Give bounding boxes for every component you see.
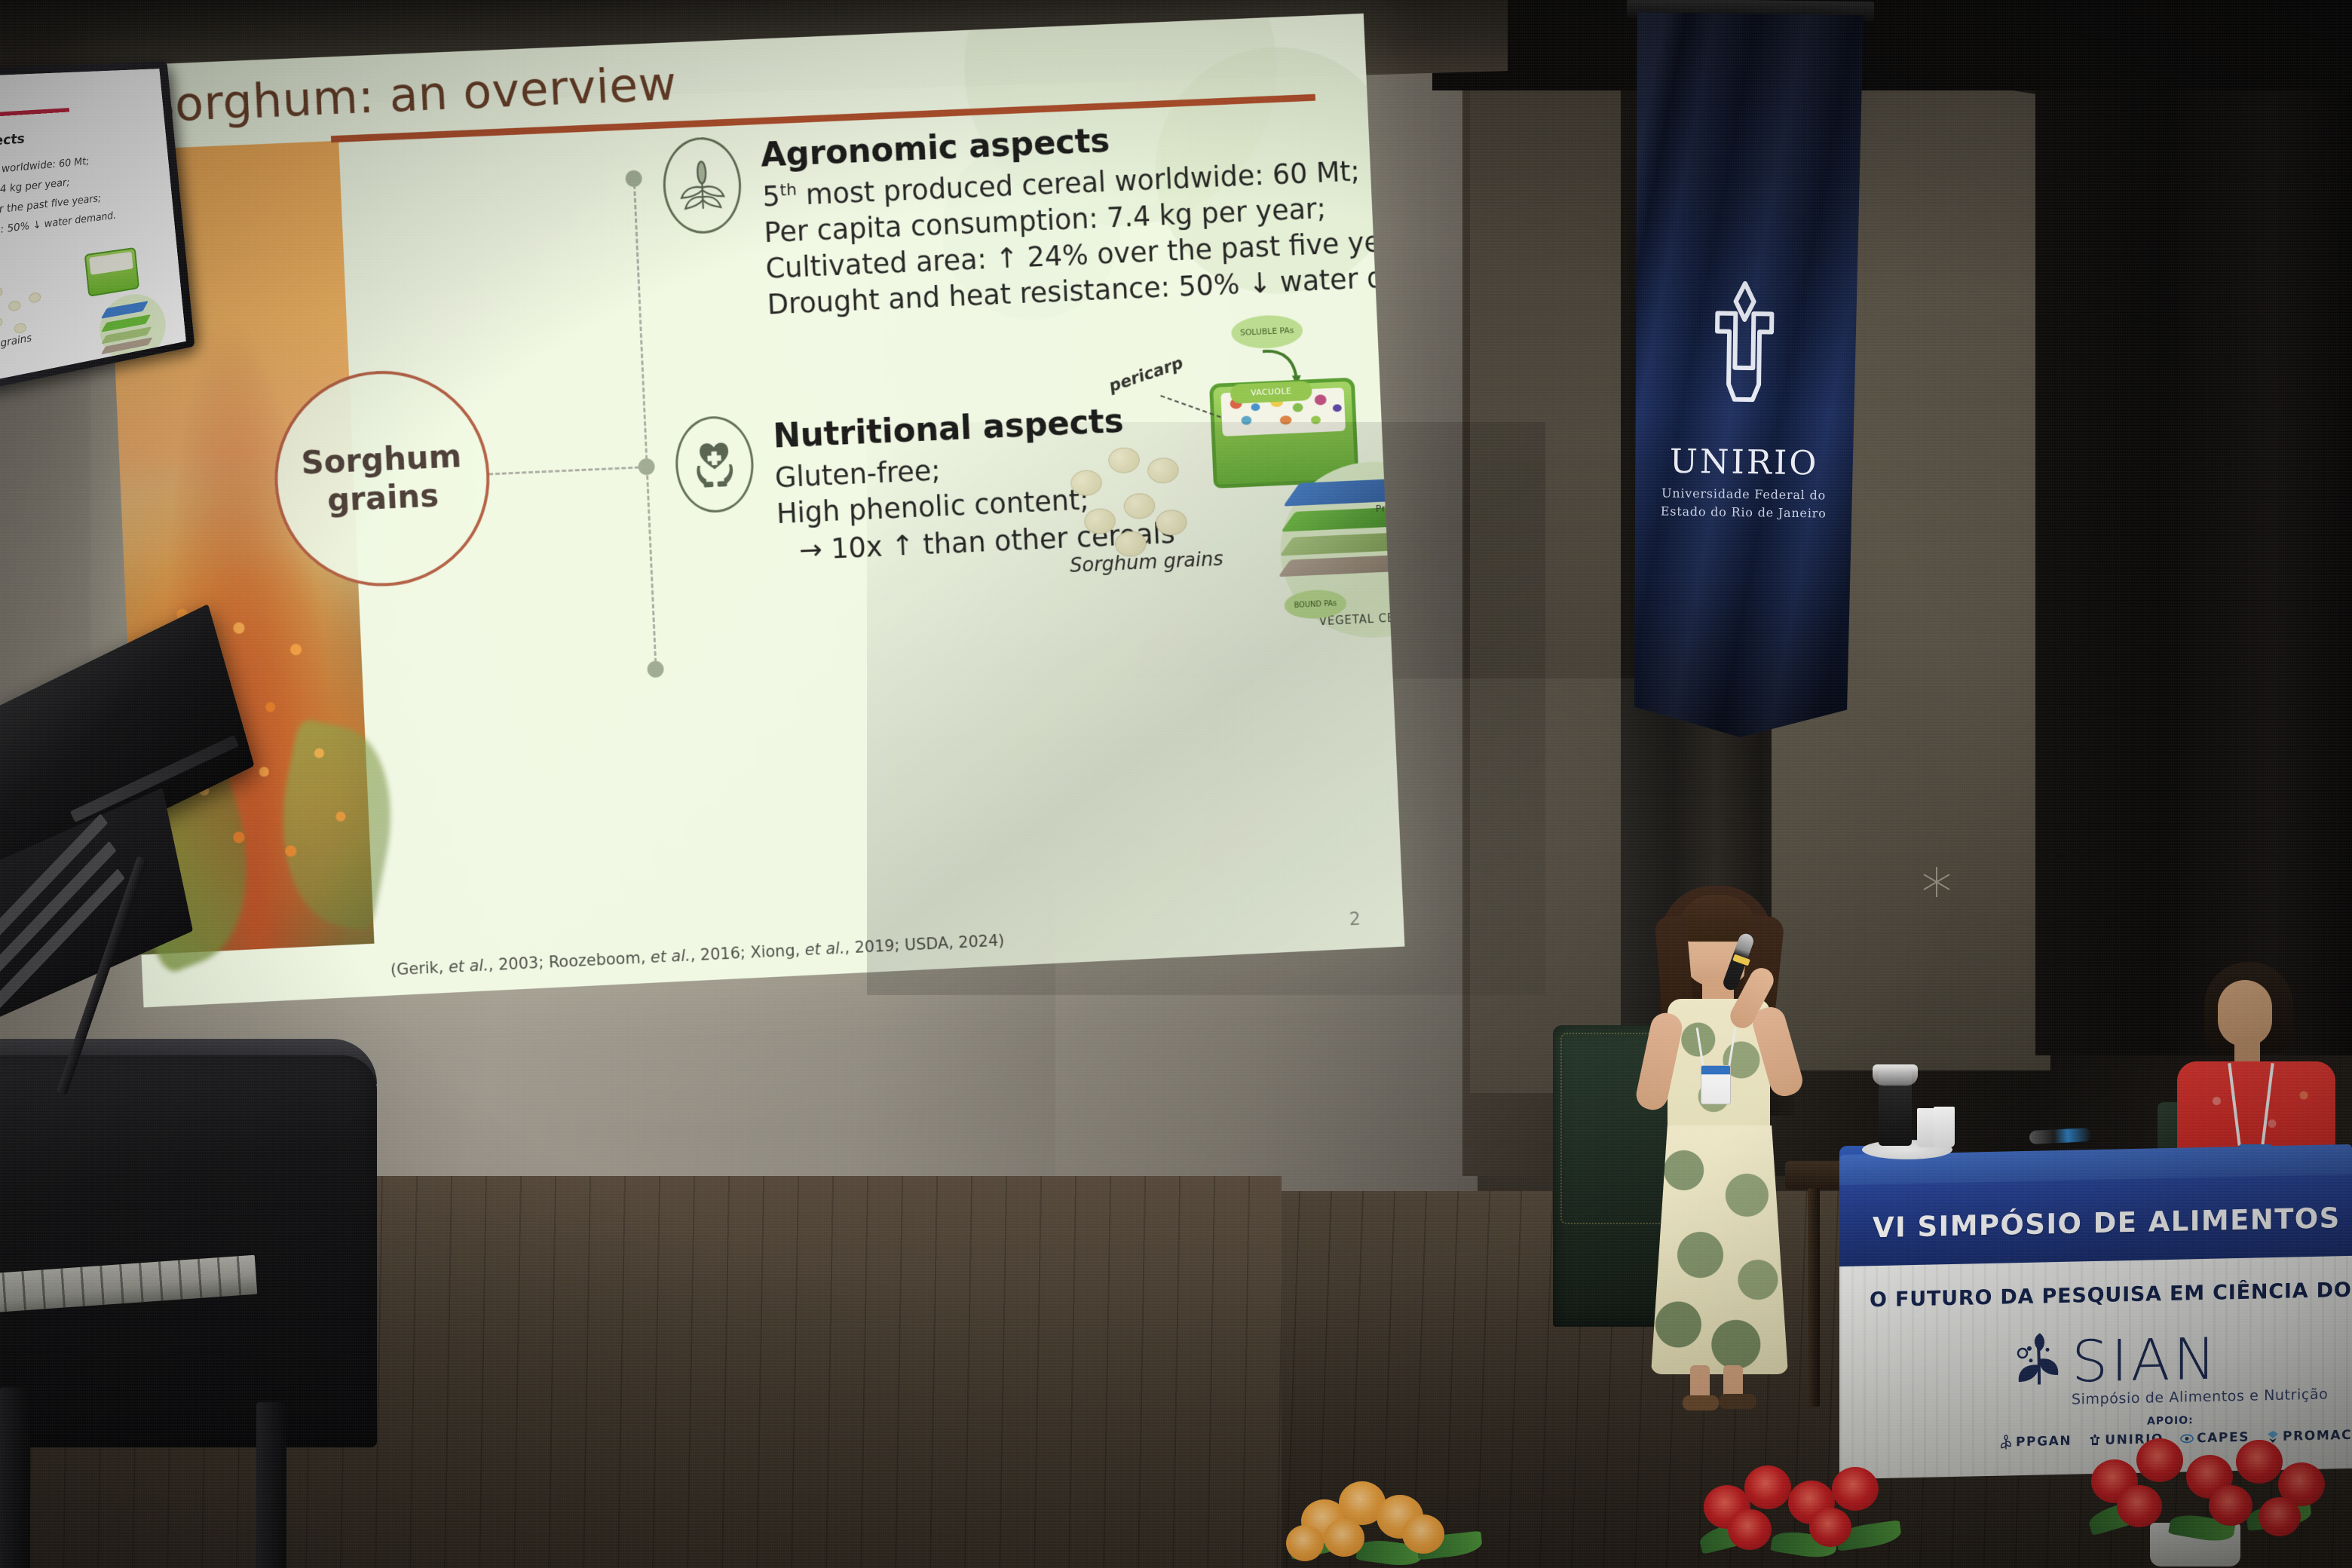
- presenter: [1621, 886, 1817, 1421]
- monitor-line-4: ...heat resistance: 50% ↓ water demand.: [0, 209, 116, 247]
- panelist-face: [2218, 980, 2272, 1046]
- piano-case: [0, 1055, 377, 1447]
- stage-curtain-right: [2035, 0, 2352, 1055]
- pitcher-lace-cover: [1873, 1064, 1918, 1086]
- orange-chrysanthemum-bouquet: [1282, 1474, 1508, 1568]
- seated-panelist: [2161, 957, 2352, 1176]
- event-title: VI SIMPÓSIO DE ALIMENTOS E NU: [1873, 1200, 2352, 1244]
- agronomic-aspects-block: Agronomic aspects 5th most produced cere…: [760, 106, 1404, 323]
- soluble-pa-label: SOLUBLE PAs: [1231, 314, 1303, 350]
- slide-page-number: 2: [1349, 908, 1361, 929]
- piano-leg-left: [0, 1387, 30, 1568]
- panelist-neck: [2234, 1037, 2260, 1064]
- banner-subtitle-line1: Universidade Federal do: [1631, 485, 1857, 503]
- banner-subtitle-line2: Estado do Rio de Janeiro: [1631, 504, 1857, 521]
- unirio-banner: UNIRIO Universidade Federal do Estado do…: [1627, 0, 1864, 778]
- connector-dot-middle: [638, 458, 655, 476]
- banner-cloth: UNIRIO Universidade Federal do Estado do…: [1628, 12, 1864, 739]
- sian-sprout-icon: [2013, 1331, 2066, 1388]
- table-banner-blue-band: VI SIMPÓSIO DE ALIMENTOS E NU: [1839, 1174, 2352, 1269]
- sorghum-grains-node-line2: grains: [326, 476, 439, 520]
- presenter-sandal-left: [1683, 1395, 1719, 1410]
- red-gerbera-bouquet-center: [1689, 1455, 1930, 1568]
- sorghum-grains-node-line1: Sorghum: [300, 436, 462, 482]
- monitor-bezel: ...omic aspects ...produced cereal world…: [0, 62, 194, 393]
- slide-connector-vertical: [633, 178, 657, 669]
- sian-logo: SIAN: [2013, 1328, 2219, 1389]
- monitor-line-5: ...nt; Sorghum grains: [0, 331, 32, 364]
- monitor-cell-diagram: [84, 247, 139, 297]
- pericarp-label: pericarp: [1107, 354, 1186, 396]
- red-gerbera-bouquet-right: [2081, 1432, 2352, 1568]
- connector-dot-top: [625, 170, 642, 188]
- monitor-heading-1: ...omic aspects: [0, 130, 26, 155]
- monitor-screen: ...omic aspects ...produced cereal world…: [0, 69, 186, 384]
- unirio-trident-crest-icon: [1701, 278, 1787, 430]
- grand-piano: [0, 739, 392, 1568]
- piano-leg-right: [256, 1402, 286, 1568]
- confidence-monitor: ...omic aspects ...produced cereal world…: [0, 62, 194, 393]
- heart-in-hands-icon: [674, 415, 756, 514]
- support-label: APOIO:: [2147, 1414, 2194, 1427]
- ppgan-leaf-icon: [1999, 1435, 2013, 1450]
- wheat-stalk-icon: [661, 136, 743, 235]
- presenter-conference-badge: [1701, 1065, 1731, 1104]
- connector-dot-bottom: [647, 660, 664, 678]
- banner-institution-name: UNIRIO: [1631, 442, 1857, 483]
- sponsor-ppgan-label: PPGAN: [2016, 1434, 2072, 1450]
- slide-title: Sorghum: an overview: [144, 56, 678, 133]
- sponsor-ppgan: PPGAN: [1999, 1434, 2072, 1450]
- head-table: VI SIMPÓSIO DE ALIMENTOS E NU O FUTURO D…: [1839, 1150, 2352, 1474]
- ceiling: [1432, 0, 2352, 90]
- wall-sconce-icon: [1915, 861, 1958, 903]
- sian-wordmark: SIAN: [2072, 1335, 2219, 1387]
- vacuole-label: VACUOLE: [1230, 381, 1312, 404]
- presenter-skirt: [1651, 1125, 1788, 1374]
- presentation-photo-scene: UNIRIO Universidade Federal do Estado do…: [0, 0, 2352, 1568]
- presenter-sandal-right: [1719, 1394, 1756, 1409]
- slide-connector-horizontal: [488, 466, 646, 475]
- plastic-cup-2: [1934, 1107, 1955, 1147]
- plant-cell-diagram: SOLUBLE PAs: [1162, 338, 1404, 666]
- monitor-title-rule: [0, 108, 69, 121]
- event-theme: O FUTURO DA PESQUISA EM CIÊNCIA DOS AL: [1870, 1277, 2352, 1312]
